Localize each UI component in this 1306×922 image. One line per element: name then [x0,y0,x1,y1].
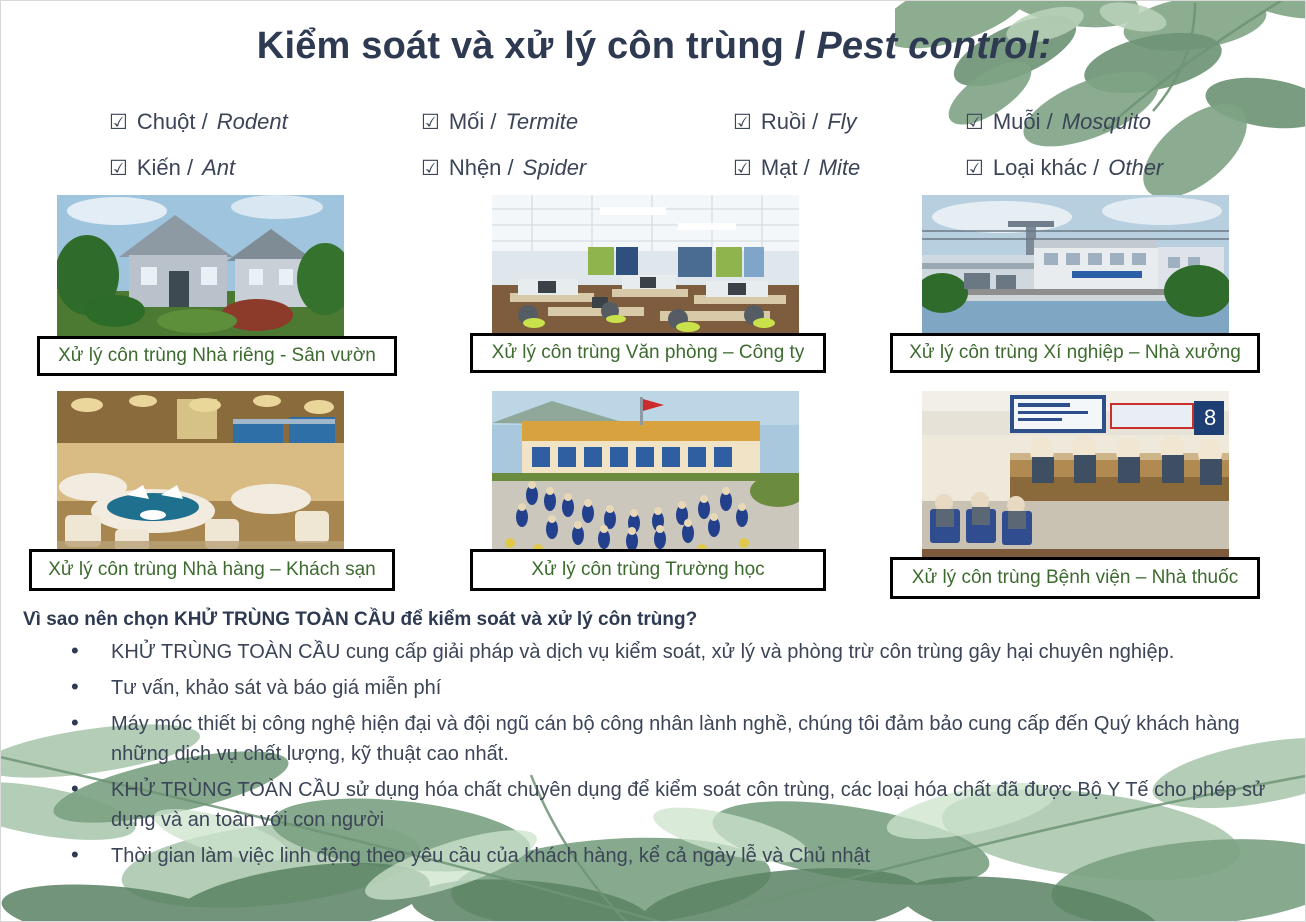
checklist-label-vi: Mối / [449,109,497,135]
checklist-label-en: Rodent [217,109,288,135]
checklist-label-vi: Chuột / [137,109,208,135]
photo-cell-restaurant: Xử lý côn trùng Nhà hàng – Khách sạn [57,391,344,554]
checklist-item-fly[interactable]: ☑Ruồi / Fly [733,109,965,135]
school-photo [492,391,799,554]
photo-caption: Xử lý côn trùng Nhà hàng – Khách sạn [29,549,395,591]
page-title: Kiểm soát và xử lý côn trùng / Pest cont… [1,25,1306,68]
restaurant-hotel-photo [57,391,344,554]
checkbox-checked-icon[interactable]: ☑ [733,112,752,133]
checklist-item-other[interactable]: ☑Loại khác / Other [965,155,1239,181]
checklist-label-vi: Muỗi / [993,109,1053,135]
checkbox-checked-icon[interactable]: ☑ [109,112,128,133]
photo-caption: Xử lý côn trùng Nhà riêng - Sân vườn [37,336,397,376]
checkbox-checked-icon[interactable]: ☑ [965,112,984,133]
checkbox-checked-icon[interactable]: ☑ [421,158,440,179]
photo-caption: Xử lý côn trùng Trường học [470,549,826,591]
why-bullet-item: Tư vấn, khảo sát và báo giá miễn phí [63,673,1293,703]
photo-cell-house-garden: Xử lý côn trùng Nhà riêng - Sân vườn [57,195,344,342]
photo-cell-factory: Xử lý côn trùng Xí nghiệp – Nhà xưởng [922,195,1229,338]
checkbox-checked-icon[interactable]: ☑ [733,158,752,179]
hospital-pharmacy-photo: 8 [922,391,1229,561]
checklist-item-mite[interactable]: ☑Mạt / Mite [733,155,965,181]
checklist-label-en: Mite [819,155,861,181]
checklist-label-vi: Loại khác / [993,155,1099,181]
photo-caption: Xử lý côn trùng Xí nghiệp – Nhà xưởng [890,333,1260,373]
photo-cell-office: Xử lý côn trùng Văn phòng – Công ty [492,195,799,338]
pest-checklist: ☑Chuột / Rodent ☑Mối / Termite ☑Ruồi / F… [109,99,1239,191]
why-bullet-item: Máy móc thiết bị công nghệ hiện đại và đ… [63,709,1293,769]
checklist-label-vi: Mạt / [761,155,810,181]
page-title-en: Pest control: [816,25,1051,67]
checkbox-checked-icon[interactable]: ☑ [109,158,128,179]
why-bullet-item: KHỬ TRÙNG TOÀN CẦU sử dụng hóa chất chuy… [63,775,1293,835]
checklist-item-mosquito[interactable]: ☑Muỗi / Mosquito [965,109,1239,135]
checklist-item-rodent[interactable]: ☑Chuột / Rodent [109,109,421,135]
office-photo [492,195,799,338]
checklist-label-vi: Nhện / [449,155,514,181]
checklist-item-spider[interactable]: ☑Nhện / Spider [421,155,733,181]
checklist-label-en: Fly [827,109,856,135]
slide-canvas: Kiểm soát và xử lý côn trùng / Pest cont… [0,0,1306,922]
photo-caption: Xử lý côn trùng Bệnh viện – Nhà thuốc [890,557,1260,599]
svg-text:8: 8 [1204,405,1216,430]
why-heading: Vì sao nên chọn KHỬ TRÙNG TOÀN CẦU để ki… [23,609,697,631]
house-garden-photo [57,195,344,342]
why-bullet-list: KHỬ TRÙNG TOÀN CẦU cung cấp giải pháp và… [63,637,1293,877]
checklist-item-ant[interactable]: ☑Kiến / Ant [109,155,421,181]
checklist-label-vi: Kiến / [137,155,193,181]
why-bullet-item: KHỬ TRÙNG TOÀN CẦU cung cấp giải pháp và… [63,637,1293,667]
checklist-label-en: Spider [523,155,587,181]
checklist-item-termite[interactable]: ☑Mối / Termite [421,109,733,135]
checklist-label-en: Ant [202,155,235,181]
checklist-label-en: Other [1108,155,1163,181]
factory-photo [922,195,1229,338]
page-title-vi: Kiểm soát và xử lý côn trùng / [257,25,817,67]
checkbox-checked-icon[interactable]: ☑ [421,112,440,133]
checklist-label-en: Mosquito [1062,109,1151,135]
photo-cell-hospital: 8 [922,391,1229,561]
photo-cell-school: Xử lý côn trùng Trường học [492,391,799,554]
why-bullet-item: Thời gian làm việc linh động theo yêu cầ… [63,841,1293,871]
checklist-label-vi: Ruồi / [761,109,818,135]
checkbox-checked-icon[interactable]: ☑ [965,158,984,179]
checklist-label-en: Termite [506,109,579,135]
photo-caption: Xử lý côn trùng Văn phòng – Công ty [470,333,826,373]
